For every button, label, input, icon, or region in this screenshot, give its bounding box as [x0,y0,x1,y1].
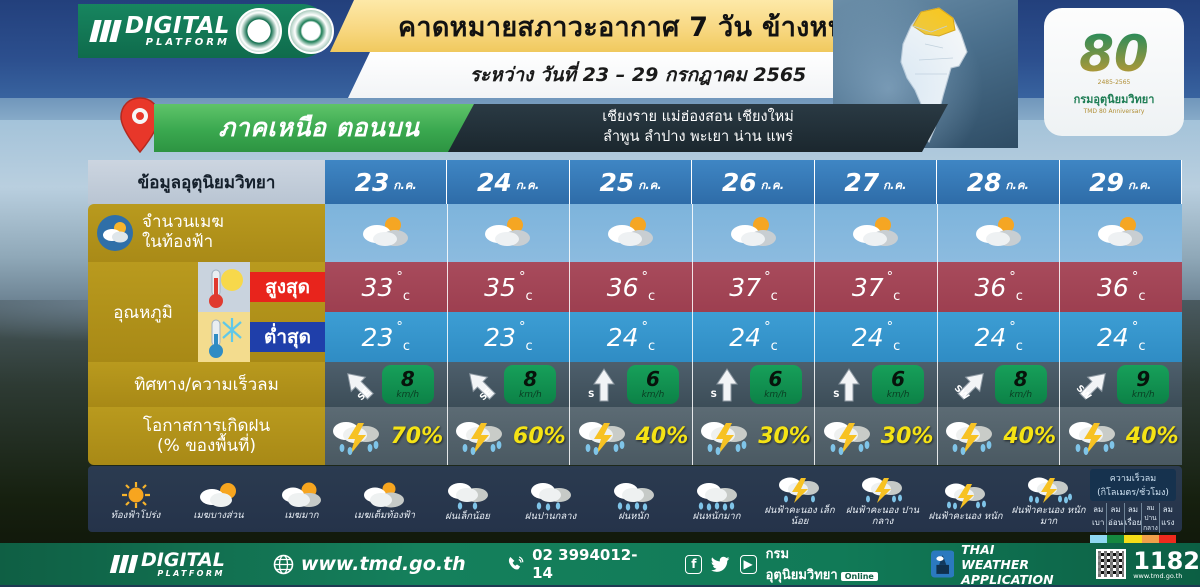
temperature-label-column: อุณหภูมิ สูงสุด [88,262,325,362]
degree-symbol: ° [1009,320,1016,335]
day-header-0: 23 ก.ค. [325,160,447,204]
min-temp-value: 24 [729,323,761,352]
wind-scale-title: ความเร็วลม (กิโลเมตร/ชั่วโมง) [1090,469,1176,501]
wind-cell-6: SW 9 km/h [1060,362,1182,407]
royal-seal-icon [236,8,282,54]
day-month: ก.ค. [516,177,539,195]
wind-direction: S [711,390,717,400]
rain-cell-0: 70% [325,407,448,465]
legend-label: ฝนฟ้าคะนอง หนัก [929,512,1003,523]
wind-speed: 6 [646,369,660,389]
day-header-2: 25 ก.ค. [570,160,692,204]
legend-item-overcast: เมฆเต็มท้องฟ้า [343,477,426,522]
rain-percent: 30% [881,424,934,449]
qr-code-icon[interactable] [1096,549,1126,579]
wind-speed-badge: 6 km/h [872,365,924,404]
day-number: 25 [599,168,634,197]
unit-c: c [403,339,410,354]
rain-percent: 70% [390,424,443,449]
max-temp-value: 35 [484,273,516,302]
rain-percent: 40% [636,424,689,449]
youtube-icon[interactable]: ▶ [740,555,757,574]
anniversary-years: 2485-2565 [1098,79,1131,86]
cloud-row-label: จำนวนเมฆ ในท้องฟ้า [88,204,325,262]
max-temp-cell-0: 33°c [325,262,448,312]
min-temp-cell-5: 24°c [938,312,1061,362]
wind-unit: km/h [519,391,542,400]
app-line-1: THAI WEATHER [961,542,1056,572]
footer-social-links: f ▶ กรมอุตุนิยมวิทยาOnline [685,543,884,585]
wind-speed-badge: 8 km/h [504,365,556,404]
thunderstorm-icon [1064,415,1122,457]
unit-c: c [648,339,655,354]
day-number: 24 [477,168,512,197]
thunderstorm-icon [328,415,386,457]
online-label-text: กรมอุตุนิยมวิทยา [766,547,838,583]
degree-symbol: ° [764,270,771,285]
degree-symbol: ° [396,320,403,335]
unit-c: c [525,339,532,354]
min-temp-value: 23 [362,323,394,352]
legend-item-mostly-cloudy: เมฆมาก [260,477,343,522]
footer-phone[interactable]: 02 3994012-14 [506,546,644,582]
temperature-block: อุณหภูมิ สูงสุด [88,262,1182,362]
day-number: 27 [844,168,879,197]
max-temp-label-row: สูงสุด [198,262,325,312]
rain-cell-2: 40% [570,407,693,465]
min-temp-value: 24 [607,323,639,352]
max-temp-cell-5: 36°c [938,262,1061,312]
region-name-banner: ภาคเหนือ ตอนบน [154,104,484,152]
date-range: ระหว่าง วันที่ 23 – 29 กรกฎาคม 2565 [470,60,807,90]
max-temp-cell-3: 37°c [693,262,816,312]
wind-speed: 6 [891,369,905,389]
province-list: เชียงราย แม่ฮ่องสอน เชียงใหม่ ลำพูน ลำปา… [448,104,948,152]
temperature-label: อุณหภูมิ [88,262,198,362]
footer-app[interactable]: THAI WEATHER APPLICATION [931,542,1057,587]
cloud-cell-3 [693,204,816,262]
legend-label: เมฆมาก [285,511,319,522]
legend-label: ฝนหนักมาก [693,512,741,523]
cloud-label-line2: ในท้องฟ้า [142,233,224,253]
degree-symbol: ° [764,320,771,335]
rain-cell-1: 60% [448,407,571,465]
cloud-cell-1 [448,204,571,262]
rain-percent: 30% [758,424,811,449]
rain-percent: 60% [513,424,566,449]
min-temp-row: 23°c 23°c 24°c 24°c 24°c 24°c 24°c [325,312,1182,362]
unit-c: c [893,289,900,304]
thunderstorm-icon [819,415,877,457]
region-banner: ภาคเหนือ ตอนบน เชียงราย แม่ฮ่องสอน เชียง… [118,100,718,156]
legend-label: ฝนปานกลาง [525,512,576,523]
legend-label: ฝนฟ้าคะนอง เล็กน้อย [758,506,841,528]
rain-label-line1: โอกาสการเกิดฝน [143,416,270,436]
max-temp-cell-4: 37°c [815,262,938,312]
wind-arrow-icon: SW [951,364,993,406]
hotline-number: 1182 www.tmd.go.th [1133,549,1200,580]
anniversary-caption-sub: TMD 80 Anniversary [1084,108,1145,115]
wind-cell-3: S 6 km/h [693,362,816,407]
phone-icon [506,553,525,575]
footer-website[interactable]: www.tmd.go.th [273,553,466,575]
min-temp-cell-3: 24°c [693,312,816,362]
thai-weather-app-icon [931,549,954,579]
degree-symbol: ° [1132,270,1139,285]
cloud-cell-2 [570,204,693,262]
province-line-2: ลำพูน ลำปาง พะเยา น่าน แพร่ [603,128,793,148]
min-temp-label: ต่ำสุด [250,322,325,352]
province-line-1: เชียงราย แม่ฮ่องสอน เชียงใหม่ [602,108,794,128]
rain-cell-3: 30% [693,407,816,465]
wind-speed: 6 [769,369,783,389]
legend-label: เมฆเต็มท้องฟ้า [354,511,415,522]
cloud-cell-0 [325,204,448,262]
wind-category: ลมเบา [1090,503,1106,533]
partly-cloudy-icon [723,213,785,253]
degree-symbol: ° [642,270,649,285]
wind-scale-categories: ลมเบา ลมอ่อน ลมเรื่อย ลมปานกลาง ลมแรง [1090,503,1176,533]
min-temp-value: 23 [484,323,516,352]
partly-cloudy-icon [1090,213,1152,253]
unit-c: c [1016,339,1023,354]
day-number: 29 [1089,168,1124,197]
unit-c: c [1016,289,1023,304]
very-heavy-rain-icon [693,479,741,511]
unit-c: c [893,339,900,354]
brand-sub: PLATFORM [125,38,230,48]
min-temp-label-row: ต่ำสุด [198,312,325,362]
wind-speed-badge: 6 km/h [627,365,679,404]
legend-item-heavy-thunderstorm: ฝนฟ้าคะนอง หนัก [924,476,1007,523]
table-header-row: ข้อมูลอุตุนิยมวิทยา 23 ก.ค. 24 ก.ค. 25 ก… [88,160,1182,204]
overcast-icon [361,480,409,510]
moderate-rain-icon [527,479,575,511]
degree-symbol: ° [1009,270,1016,285]
wind-direction: S [588,390,594,400]
wind-arrow-icon: S [706,364,748,406]
wind-cell-5: SW 8 km/h [938,362,1061,407]
partly-cloudy-icon [845,213,907,253]
wind-arrow-icon: SW [1073,364,1115,406]
wind-speed: 8 [523,369,537,389]
light-rain-icon [444,479,492,511]
app-line-2: APPLICATION [961,572,1056,587]
very-heavy-thunderstorm-icon [1024,473,1074,505]
digital-platform-bars-icon [92,20,119,42]
rain-cell-6: 40% [1060,407,1182,465]
region-name: ภาคเหนือ ตอนบน [219,108,420,148]
partly-cloudy-icon [968,213,1030,253]
thunderstorm-icon [696,415,754,457]
partly-cloudy-icon [600,213,662,253]
wind-speed-badge: 9 km/h [1117,365,1169,404]
max-temp-value: 33 [362,273,394,302]
max-temp-cell-6: 36°c [1060,262,1182,312]
moderate-thunderstorm-icon [858,473,908,505]
degree-symbol: ° [519,320,526,335]
day-month: ก.ค. [393,177,416,195]
max-temp-cell-2: 36°c [570,262,693,312]
day-number: 23 [355,168,390,197]
legend-item-moderate-thunderstorm: ฝนฟ้าคะนอง ปานกลาง [841,470,924,528]
phone-number: 02 3994012-14 [532,546,643,582]
day-header-4: 27 ก.ค. [815,160,937,204]
wind-unit: km/h [396,391,419,400]
day-header-3: 26 ก.ค. [692,160,814,204]
footer-brand-sub: PLATFORM [141,570,225,578]
wind-speed-badge: 6 km/h [750,365,802,404]
anniversary-80-logo: 80 2485-2565 กรมอุตุนิยมวิทยา TMD 80 Ann… [1044,8,1184,136]
partly-cloudy-icon [355,213,417,253]
page-header: DIGITAL PLATFORM 80 คาดหมายสภาวะอากาศ 7 … [0,0,1200,98]
page-footer: DIGITAL PLATFORM www.tmd.go.th 02 399401… [0,543,1200,585]
wind-unit: km/h [887,391,910,400]
cloud-cell-6 [1060,204,1182,262]
anniversary-caption: กรมอุตุนิยมวิทยา [1074,90,1155,108]
online-badge: Online [841,572,878,581]
wind-row-label: ทิศทาง/ความเร็วลม [88,362,325,407]
wind-arrow-icon: S [828,364,870,406]
max-temp-value: 36 [607,273,639,302]
legend-item-very-heavy-thunderstorm: ฝนฟ้าคะนอง หนักมาก [1007,470,1090,528]
degree-symbol: ° [887,270,894,285]
day-month: ก.ค. [638,177,661,195]
wind-speed-badge: 8 km/h [382,365,434,404]
heavy-rain-icon [610,479,658,511]
wind-speed-badge: 8 km/h [995,365,1047,404]
wind-category: ลมแรง [1159,503,1176,533]
max-temp-cell-1: 35°c [448,262,571,312]
min-temp-cell-6: 24°c [1060,312,1182,362]
degree-symbol: ° [1132,320,1139,335]
footer-brand-name: DIGITAL [141,551,225,570]
tmd-seal-icon [288,8,334,54]
degree-symbol: ° [642,320,649,335]
unit-c: c [771,339,778,354]
twitter-icon[interactable] [711,555,730,573]
day-header-1: 24 ก.ค. [447,160,569,204]
partly-cloudy-icon [96,214,134,252]
day-header-5: 28 ก.ค. [937,160,1059,204]
degree-symbol: ° [887,320,894,335]
wind-unit: km/h [1009,391,1032,400]
legend-item-light-rain: ฝนเล็กน้อย [426,476,509,523]
degree-symbol: ° [396,270,403,285]
footer-hotline: 1182 www.tmd.go.th [1096,549,1200,580]
rain-percent: 40% [1126,424,1179,449]
wind-speed: 8 [401,369,415,389]
wind-cell-2: S 6 km/h [570,362,693,407]
max-temp-label: สูงสุด [250,272,325,302]
legend-item-moderate-rain: ฝนปานกลาง [509,476,592,523]
thermometer-cold-icon [198,312,250,362]
globe-icon [273,554,294,575]
degree-symbol: ° [519,270,526,285]
heavy-thunderstorm-icon [941,479,991,511]
min-temp-value: 24 [974,323,1006,352]
footer-digital-platform-logo: DIGITAL PLATFORM [112,551,225,578]
legend-label: ท้องฟ้าโปร่ง [111,511,161,522]
forecast-table: ข้อมูลอุตุนิยมวิทยา 23 ก.ค. 24 ก.ค. 25 ก… [88,160,1182,465]
legend-item-partly-cloudy: เมฆบางส่วน [177,477,260,522]
unit-c: c [525,289,532,304]
wind-unit: km/h [642,391,665,400]
legend-item-very-heavy-rain: ฝนหนักมาก [675,476,758,523]
day-number: 26 [722,168,757,197]
legend-item-light-thunderstorm: ฝนฟ้าคะนอง เล็กน้อย [758,470,841,528]
thunderstorm-icon [451,415,509,457]
website-url: www.tmd.go.th [301,553,466,575]
anniversary-number: 80 [1079,29,1149,79]
legend-label: เมฆบางส่วน [193,511,243,522]
wind-category: ลมเรื่อย [1124,503,1142,533]
thunderstorm-icon [574,415,632,457]
legend-label: ฝนหนัก [618,512,649,523]
table-corner-label: ข้อมูลอุตุนิยมวิทยา [88,160,325,204]
wind-unit: km/h [764,391,787,400]
thunderstorm-icon [941,415,999,457]
digital-platform-bars-icon [112,555,136,573]
day-month: ก.ค. [761,177,784,195]
legend-item-sunny: ท้องฟ้าโปร่ง [94,477,177,522]
day-header-6: 29 ก.ค. [1060,160,1182,204]
cloud-cell-5 [938,204,1061,262]
unit-c: c [1138,339,1145,354]
min-temp-value: 24 [852,323,884,352]
wind-category: ลมอ่อน [1106,503,1123,533]
wind-cell-4: S 6 km/h [815,362,938,407]
brand-name: DIGITAL [125,15,230,38]
wind-speed: 9 [1136,369,1150,389]
legend-item-heavy-rain: ฝนหนัก [592,476,675,523]
cloud-row: จำนวนเมฆ ในท้องฟ้า [88,204,1182,262]
light-thunderstorm-icon [775,473,825,505]
min-temp-cell-0: 23°c [325,312,448,362]
partly-cloudy-icon [477,213,539,253]
digital-platform-logo: DIGITAL PLATFORM [78,4,328,58]
max-temp-value: 37 [852,273,884,302]
cloud-cell-4 [815,204,938,262]
wind-direction: S [833,390,839,400]
wind-row: ทิศทาง/ความเร็วลม SE 8 km/h SE 8 km/h [88,362,1182,407]
unit-c: c [1138,289,1145,304]
max-temp-row: 33°c 35°c 36°c 37°c 37°c 36°c 36°c [325,262,1182,312]
page-title: คาดหมายสภาวะอากาศ 7 วัน ข้างหน้า [398,5,862,48]
cloud-label-line1: จำนวนเมฆ [142,213,224,233]
weather-legend: ท้องฟ้าโปร่ง เมฆบางส่วน เมฆมาก เมฆเต็มท้… [88,466,1182,532]
wind-unit: km/h [1132,391,1155,400]
wind-speed: 8 [1014,369,1028,389]
unit-c: c [403,289,410,304]
legend-label: ฝนเล็กน้อย [445,512,490,523]
wind-arrow-icon: S [583,364,625,406]
facebook-icon[interactable]: f [685,555,702,574]
rain-cell-5: 40% [938,407,1061,465]
wind-arrow-icon: SE [338,364,380,406]
min-temp-cell-2: 24°c [570,312,693,362]
rain-row-label: โอกาสการเกิดฝน (% ของพื้นที่) [88,407,325,465]
rain-label-line2: (% ของพื้นที่) [157,436,256,456]
day-month: ก.ค. [883,177,906,195]
wind-cell-0: SE 8 km/h [325,362,448,407]
legend-label: ฝนฟ้าคะนอง หนักมาก [1007,506,1090,528]
day-month: ก.ค. [1128,177,1151,195]
unit-c: c [648,289,655,304]
day-number: 28 [967,168,1002,197]
min-temp-cell-4: 24°c [815,312,938,362]
footer-online-label: กรมอุตุนิยมวิทยาOnline [766,543,885,585]
max-temp-value: 36 [1097,273,1129,302]
max-temp-value: 36 [974,273,1006,302]
max-temp-value: 37 [729,273,761,302]
hotline-value: 1182 [1133,547,1200,575]
unit-c: c [771,289,778,304]
sunny-icon [117,480,155,510]
rain-cell-4: 30% [815,407,938,465]
wind-arrow-icon: SE [460,364,502,406]
rain-percent: 40% [1003,424,1056,449]
wind-category: ลมปานกลาง [1141,503,1158,533]
partly-cloudy-icon [195,480,243,510]
wind-cell-1: SE 8 km/h [448,362,571,407]
min-temp-cell-1: 23°c [448,312,571,362]
day-month: ก.ค. [1006,177,1029,195]
min-temp-value: 24 [1097,323,1129,352]
rain-row: โอกาสการเกิดฝน (% ของพื้นที่) 70% 60% 40… [88,407,1182,465]
legend-label: ฝนฟ้าคะนอง ปานกลาง [841,506,924,528]
mostly-cloudy-icon [278,480,326,510]
wind-speed-scale: ความเร็วลม (กิโลเมตร/ชั่วโมง) ลมเบา ลมอ่… [1090,469,1176,529]
thermometer-hot-icon [198,262,250,312]
